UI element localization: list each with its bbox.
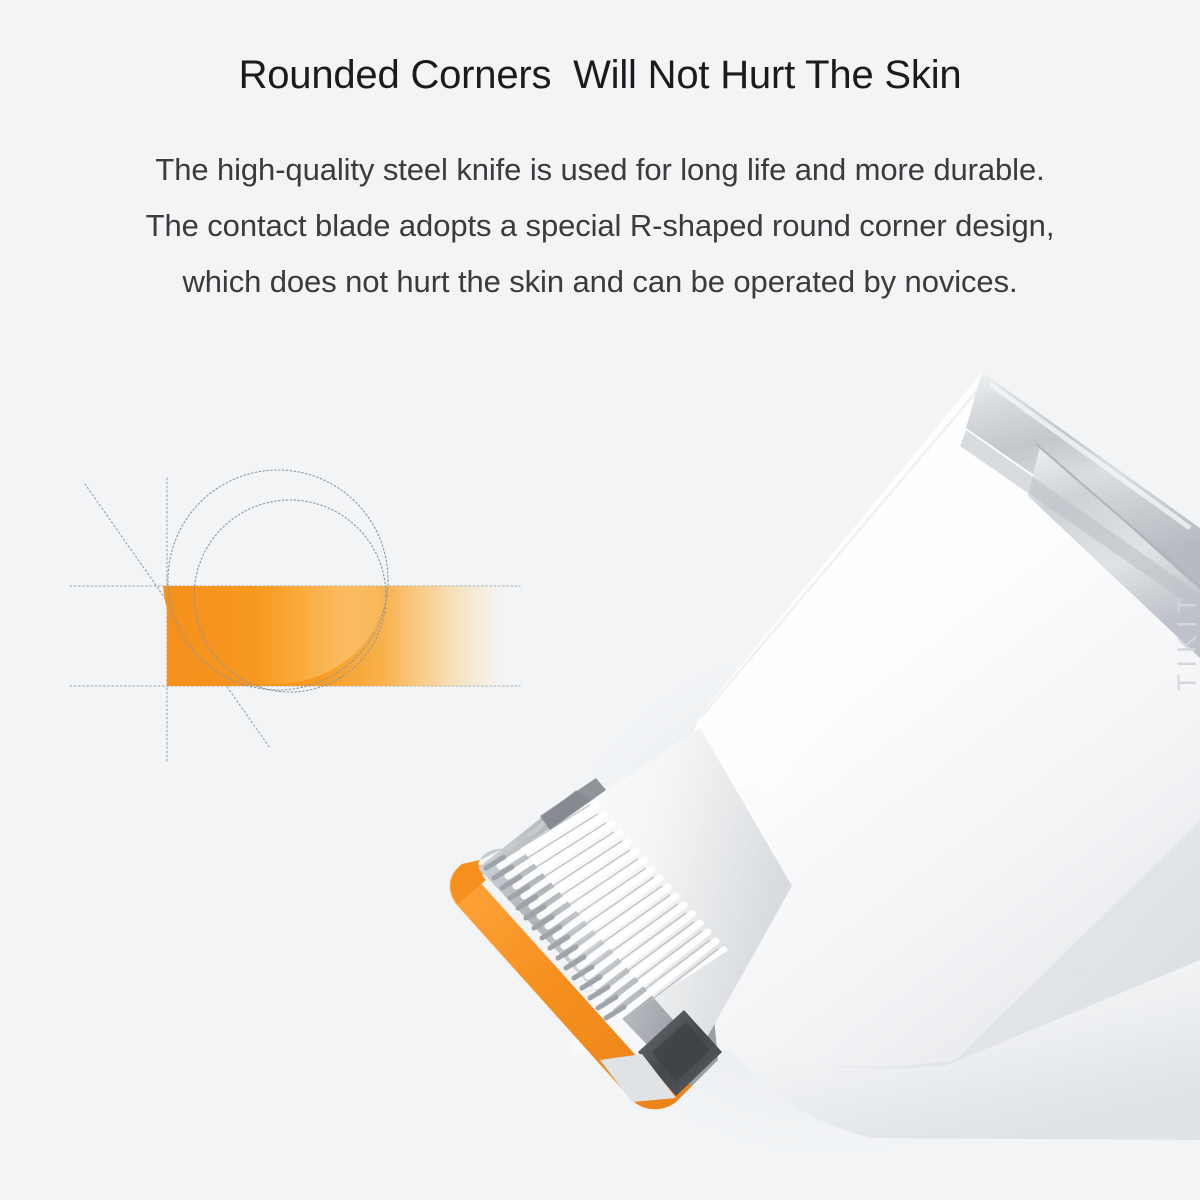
description-line-2: The contact blade adopts a special R-sha… xyxy=(0,198,1200,254)
page-title: Rounded Corners Will Not Hurt The Skin xyxy=(0,48,1200,102)
product-feature-slide: Rounded Corners Will Not Hurt The Skin T… xyxy=(0,0,1200,1200)
trimmer-product-photo: TIKIT xyxy=(400,260,1200,1200)
description-line-1: The high-quality steel knife is used for… xyxy=(0,142,1200,198)
